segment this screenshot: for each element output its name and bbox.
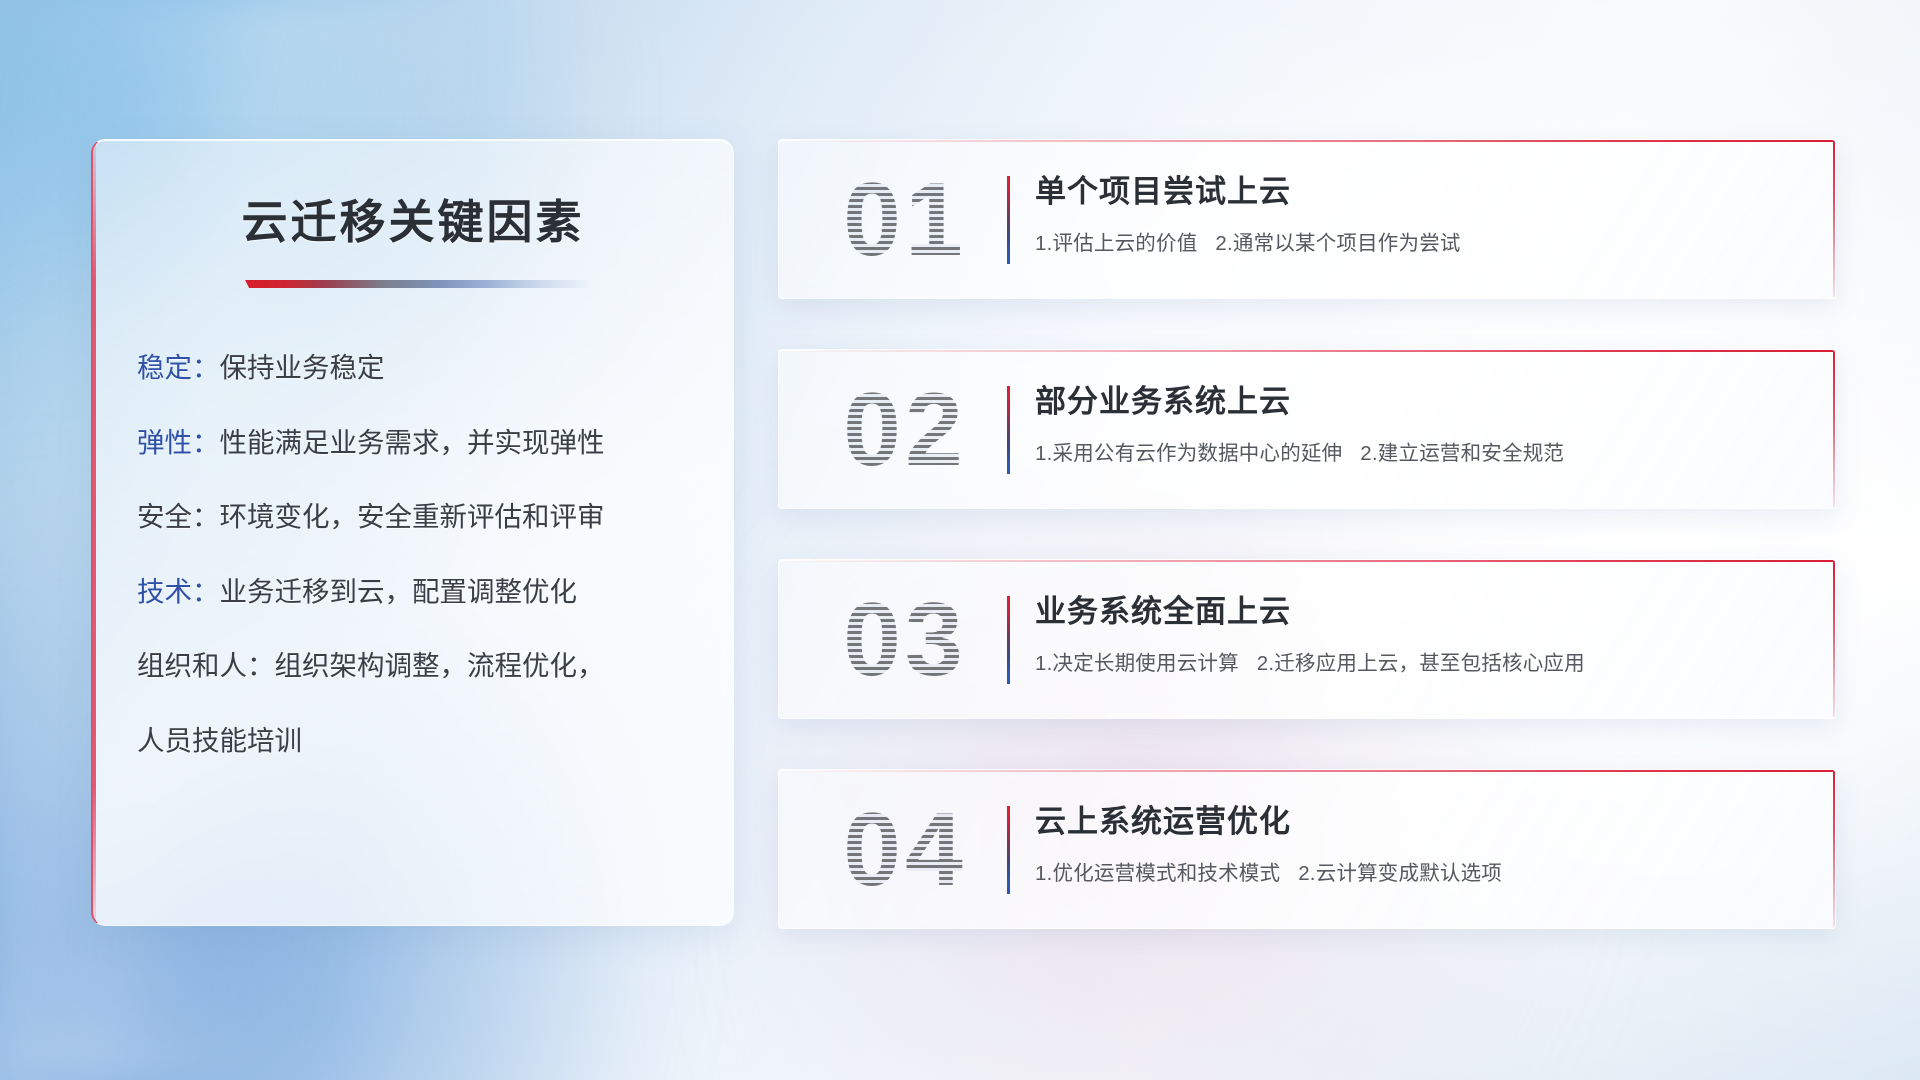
stage-number: 04 xyxy=(805,784,1005,916)
list-item-text: 环境变化，安全重新评估和评审 xyxy=(220,501,605,532)
stage-point-1: 1.采用公有云作为数据中心的延伸 xyxy=(1035,442,1342,465)
stage-divider-accent xyxy=(1007,596,1010,684)
stage-points: 1.采用公有云作为数据中心的延伸2.建立运营和安全规范 xyxy=(1035,436,1564,466)
list-item-text: 性能满足业务需求，并实现弹性 xyxy=(220,427,605,458)
list-item-text: 保持业务稳定 xyxy=(220,352,385,383)
title-underline-accent xyxy=(245,280,590,288)
list-item-key: 安全： xyxy=(137,501,220,532)
stage-point-2: 2.云计算变成默认选项 xyxy=(1298,862,1502,885)
stage-point-1: 1.优化运营模式和技术模式 xyxy=(1035,862,1280,885)
stage-card[interactable]: 02 02 部分业务系统上云 1.采用公有云作为数据中心的延伸2.建立运营和安全… xyxy=(778,349,1836,509)
stage-point-1: 1.决定长期使用云计算 xyxy=(1035,652,1239,675)
stage-card[interactable]: 03 03 业务系统全面上云 1.决定长期使用云计算2.迁移应用上云，甚至包括核… xyxy=(778,559,1836,719)
slide-stage: 云迁移关键因素 稳定：保持业务稳定 弹性：性能满足业务需求，并实现弹性 安全：环… xyxy=(0,0,1920,1080)
list-item: 稳定：保持业务稳定 xyxy=(137,354,689,382)
stage-point-2: 2.建立运营和安全规范 xyxy=(1360,442,1564,465)
key-factors-panel: 云迁移关键因素 稳定：保持业务稳定 弹性：性能满足业务需求，并实现弹性 安全：环… xyxy=(91,139,734,926)
stage-point-1: 1.评估上云的价值 xyxy=(1035,232,1197,255)
stage-divider-accent xyxy=(1007,806,1010,894)
stage-card[interactable]: 04 04 云上系统运营优化 1.优化运营模式和技术模式2.云计算变成默认选项 xyxy=(778,769,1836,929)
stage-point-2: 2.迁移应用上云，甚至包括核心应用 xyxy=(1257,652,1585,675)
page-title: 云迁移关键因素 xyxy=(93,186,733,252)
list-item: 安全：环境变化，安全重新评估和评审 xyxy=(137,503,689,531)
list-item-text: 组织架构调整，流程优化， xyxy=(275,650,605,681)
stage-divider-accent xyxy=(1007,386,1010,474)
stage-number: 03 xyxy=(805,574,1005,706)
key-factors-list: 稳定：保持业务稳定 弹性：性能满足业务需求，并实现弹性 安全：环境变化，安全重新… xyxy=(93,354,733,754)
stage-points: 1.决定长期使用云计算2.迁移应用上云，甚至包括核心应用 xyxy=(1035,646,1585,676)
list-item-text: 人员技能培训 xyxy=(137,725,302,756)
list-item: 技术：业务迁移到云，配置调整优化 xyxy=(137,578,689,606)
list-item: 人员技能培训 xyxy=(137,727,689,755)
list-item: 组织和人：组织架构调整，流程优化， xyxy=(137,652,689,680)
stage-number: 02 xyxy=(805,364,1005,496)
stage-title: 云上系统运营优化 xyxy=(1035,796,1291,841)
list-item-key: 稳定： xyxy=(137,352,220,383)
stage-point-2: 2.通常以某个项目作为尝试 xyxy=(1215,232,1460,255)
stage-title: 业务系统全面上云 xyxy=(1035,586,1291,631)
stage-points: 1.优化运营模式和技术模式2.云计算变成默认选项 xyxy=(1035,856,1502,886)
stage-title: 部分业务系统上云 xyxy=(1035,376,1291,421)
stage-number: 01 xyxy=(805,154,1005,286)
list-item-key: 技术： xyxy=(137,576,220,607)
list-item: 弹性：性能满足业务需求，并实现弹性 xyxy=(137,429,689,457)
stage-points: 1.评估上云的价值2.通常以某个项目作为尝试 xyxy=(1035,226,1461,256)
stage-divider-accent xyxy=(1007,176,1010,264)
stage-title: 单个项目尝试上云 xyxy=(1035,166,1291,211)
list-item-text: 业务迁移到云，配置调整优化 xyxy=(220,576,578,607)
list-item-key: 组织和人： xyxy=(137,650,275,681)
list-item-key: 弹性： xyxy=(137,427,220,458)
stage-card[interactable]: 01 01 单个项目尝试上云 1.评估上云的价值2.通常以某个项目作为尝试 xyxy=(778,139,1836,299)
